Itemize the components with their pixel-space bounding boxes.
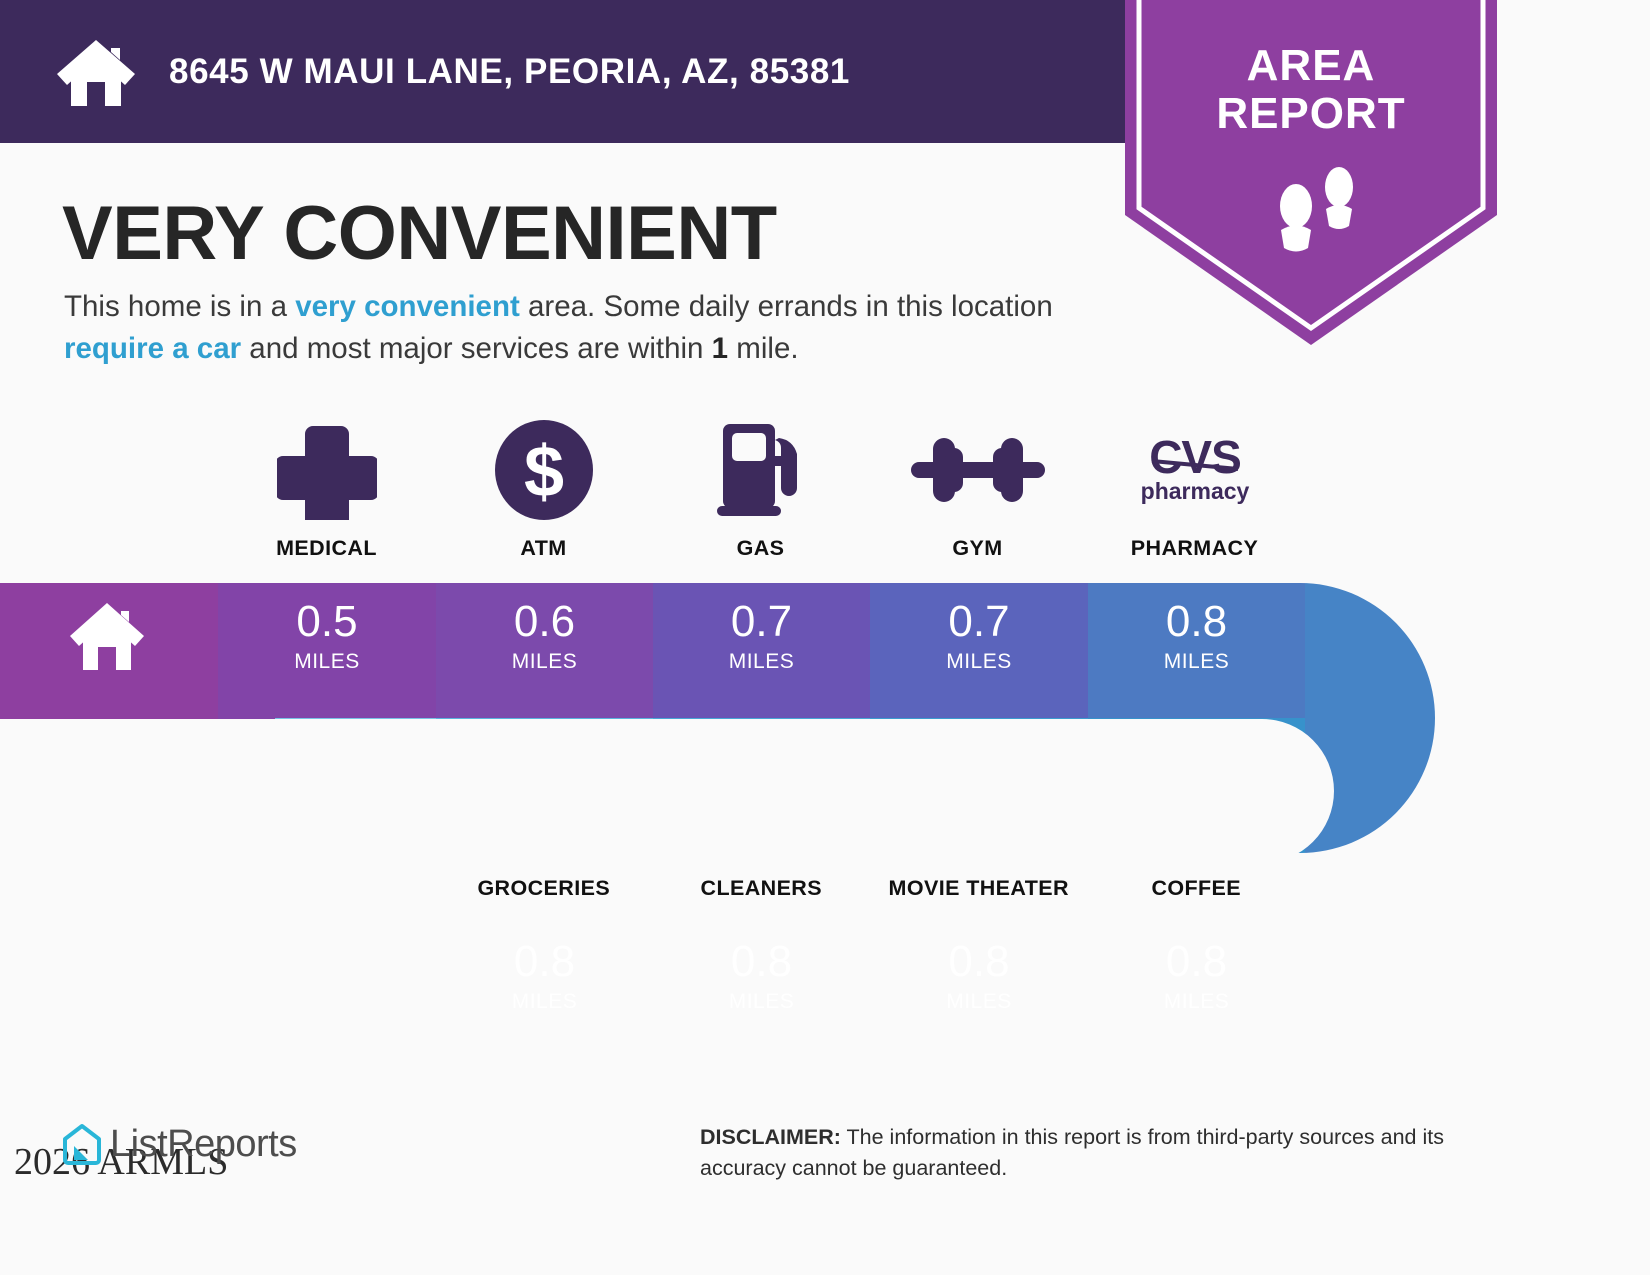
- category-gas: GAS: [652, 418, 869, 561]
- category-label: GYM: [952, 536, 1002, 561]
- svg-text:$: $: [523, 432, 563, 512]
- category-label: GAS: [737, 536, 785, 561]
- listreports-logo: ListReports: [60, 1122, 297, 1166]
- category-label: PHARMACY: [1131, 536, 1258, 561]
- category-medical: MEDICAL: [218, 418, 435, 561]
- home-icon: [55, 36, 137, 108]
- badge-label: AREA REPORT: [1125, 42, 1497, 137]
- atm-dollar-icon: $: [495, 418, 593, 522]
- property-address: 8645 W MAUI LANE, PEORIA, AZ, 85381: [169, 52, 850, 92]
- category-pharmacy: CVS pharmacy PHARMACY: [1086, 418, 1303, 561]
- category-gym: GYM: [869, 418, 1086, 561]
- summary-part-1: This home is in a: [64, 290, 295, 323]
- summary-highlight-convenient: very convenient: [295, 290, 520, 323]
- badge-line-1: AREA: [1125, 42, 1497, 90]
- summary-text: This home is in a very convenient area. …: [64, 286, 1104, 370]
- category-atm: $ ATM: [435, 418, 652, 561]
- listreports-house-icon: [60, 1122, 104, 1166]
- category-label: ATM: [520, 536, 566, 561]
- svg-text:CVS: CVS: [1149, 431, 1241, 483]
- badge-line-2: REPORT: [1125, 90, 1497, 138]
- listreports-logo-text: ListReports: [110, 1123, 297, 1166]
- area-report-badge: AREA REPORT: [1125, 0, 1497, 345]
- dumbbell-icon: [911, 418, 1045, 522]
- home-icon: [68, 600, 146, 672]
- summary-part-4: mile.: [728, 332, 798, 365]
- svg-text:pharmacy: pharmacy: [1140, 478, 1249, 504]
- category-icons-row-1: MEDICAL $ ATM: [218, 418, 1303, 561]
- medical-cross-icon: [277, 418, 377, 522]
- cvs-pharmacy-icon: CVS pharmacy: [1126, 418, 1264, 522]
- disclaimer-label: DISCLAIMER:: [700, 1125, 841, 1149]
- disclaimer: DISCLAIMER: The information in this repo…: [700, 1122, 1510, 1183]
- summary-highlight-car: require a car: [64, 332, 241, 365]
- summary-part-2: area. Some daily errands in this locatio…: [520, 290, 1053, 323]
- summary-part-3: and most major services are within: [241, 332, 712, 365]
- summary-highlight-distance: 1: [712, 332, 728, 365]
- header-bar: 8645 W MAUI LANE, PEORIA, AZ, 85381: [0, 0, 1200, 143]
- area-report-page: 8645 W MAUI LANE, PEORIA, AZ, 85381 AREA…: [0, 0, 1650, 1275]
- gas-pump-icon: [709, 418, 813, 522]
- page-title: VERY CONVENIENT: [62, 190, 777, 277]
- category-label: MEDICAL: [276, 536, 377, 561]
